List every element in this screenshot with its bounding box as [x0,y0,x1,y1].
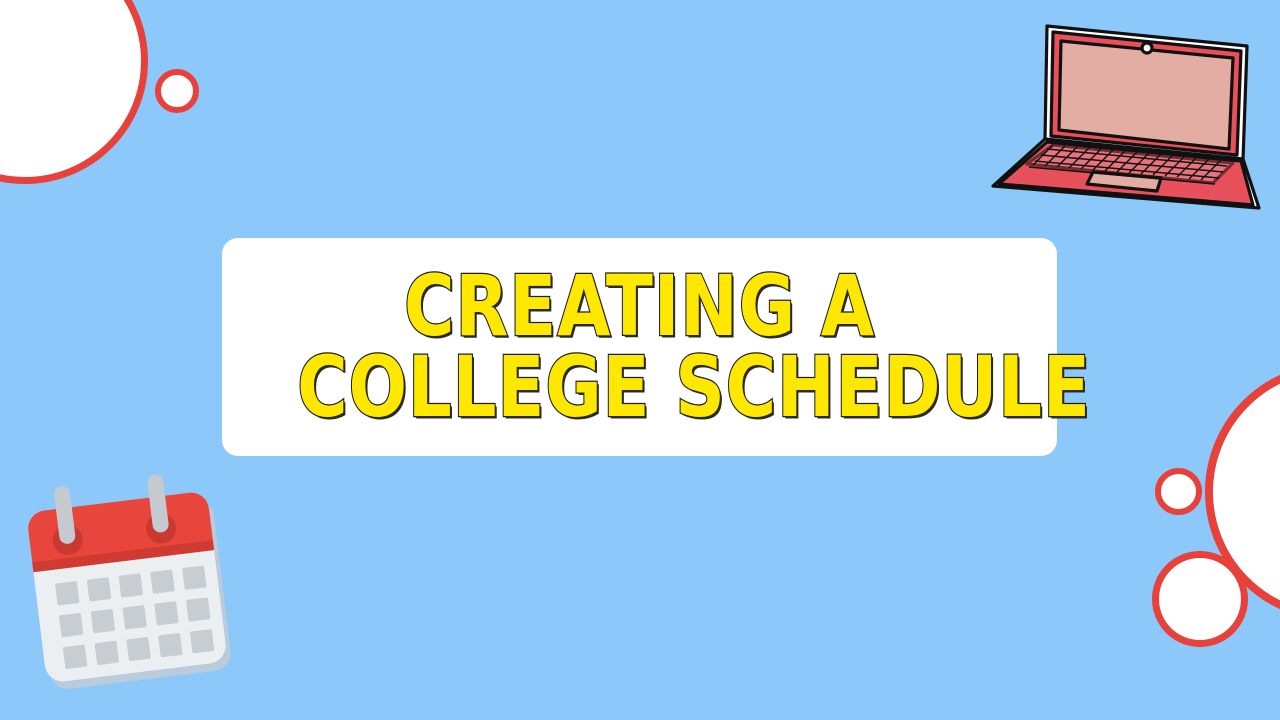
decorative-circle-top-left-small [155,69,199,113]
slide-canvas: CREATING A COLLEGE SCHEDULE [0,0,1280,720]
page-title-line-2: COLLEGE SCHEDULE [297,349,982,426]
laptop-icon [975,8,1265,223]
decorative-circle-bottom-right-small [1155,468,1202,515]
decorative-circle-top-left-large [0,0,148,184]
calendar-icon [18,470,253,705]
page-title-line-1: CREATING A [297,268,982,345]
decorative-circle-bottom-right-medium [1152,551,1248,647]
title-card: CREATING A COLLEGE SCHEDULE [222,238,1057,456]
